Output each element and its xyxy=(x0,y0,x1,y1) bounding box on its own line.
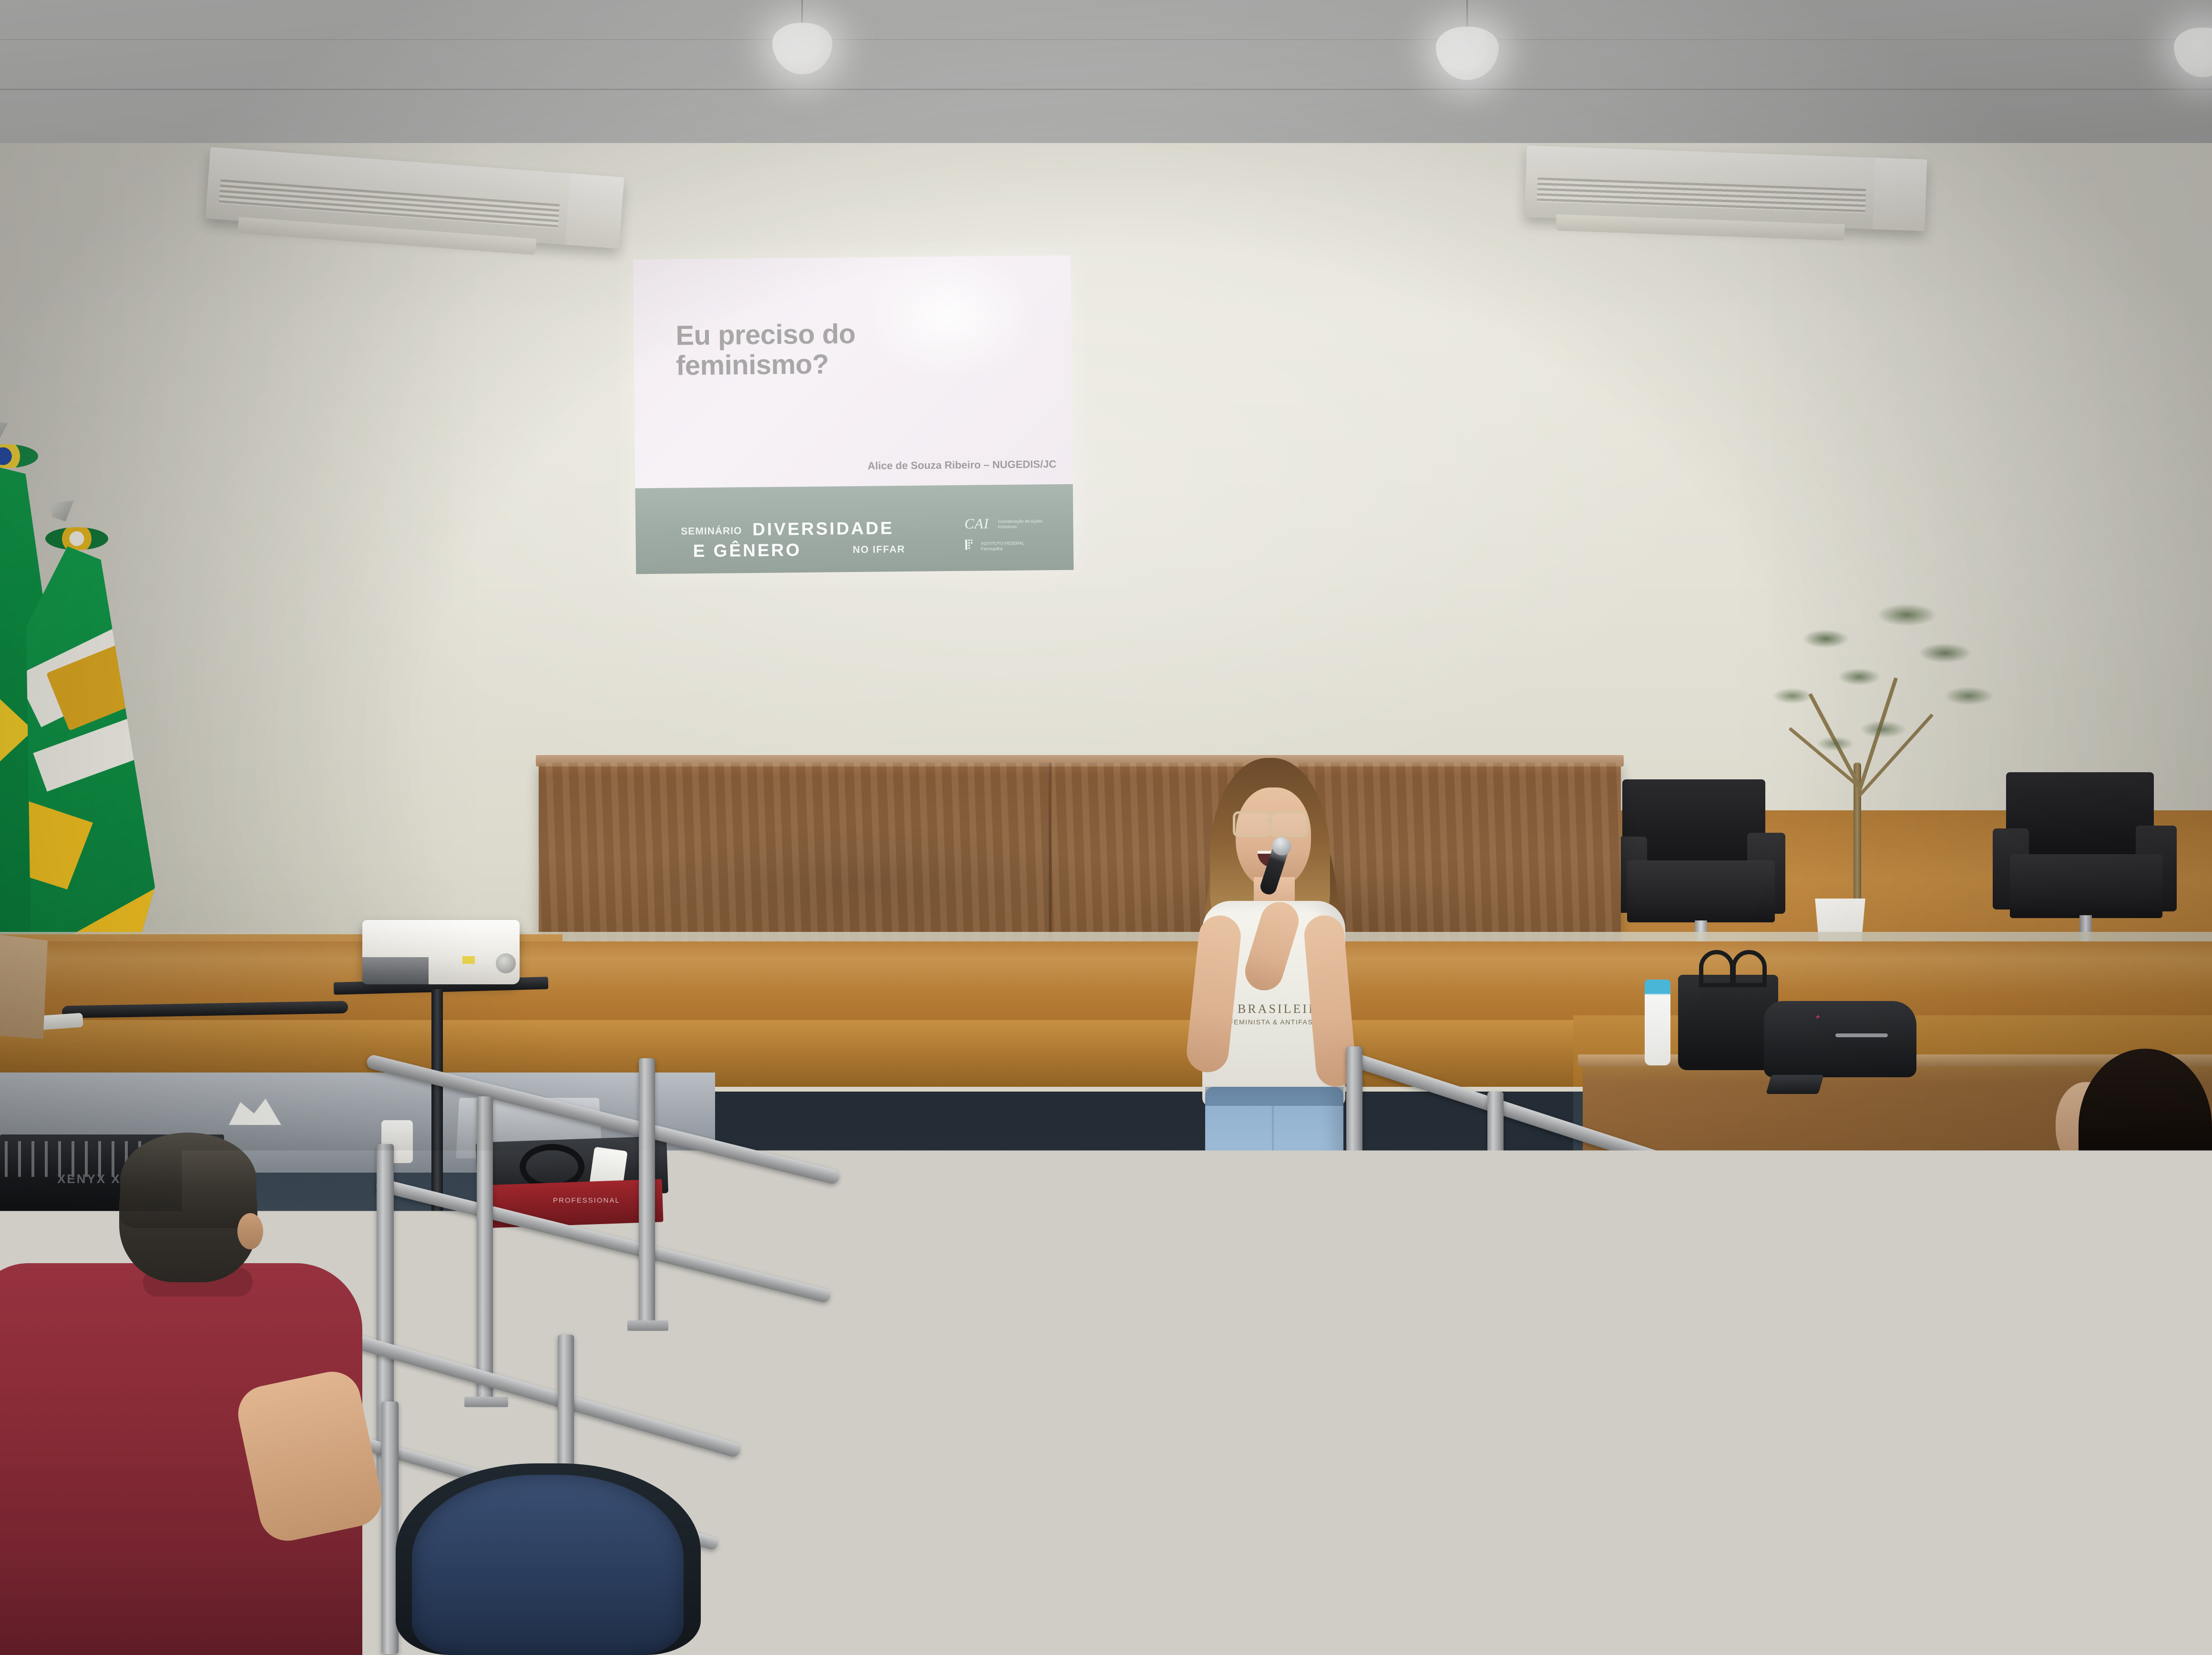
wallet xyxy=(1766,1075,1823,1094)
woman-hair xyxy=(2079,1049,2212,1206)
projector-lens xyxy=(496,953,516,973)
audience-woman-pink-jacket xyxy=(1535,1349,1926,1655)
pendant-cord-center xyxy=(1466,0,1468,31)
ramp-post-r3 xyxy=(1397,1268,1414,1655)
rio-grande-do-sul-flag xyxy=(36,501,155,987)
red-case-label: PROFESSIONAL xyxy=(553,1196,639,1204)
jeans-seam xyxy=(1272,1106,1274,1344)
ac-side-panel xyxy=(1873,158,1927,231)
woman-long-black-hair xyxy=(1621,1349,1821,1616)
banner-noiffar-label: NO IFFAR xyxy=(853,544,905,556)
ramp-base-plate-r1 xyxy=(1334,1344,1377,1355)
jeans-waistband xyxy=(1205,1087,1343,1106)
speaker-jeans xyxy=(1205,1087,1343,1354)
banner-egenero-label: E GÊNERO xyxy=(693,540,802,561)
audience-chair-center-2[interactable] xyxy=(706,1540,1001,1655)
slide-title: Eu preciso do feminismo? xyxy=(676,318,943,381)
ramp-post-r1 xyxy=(1346,1046,1362,1351)
backpack-logo: ✦ xyxy=(1814,1012,1820,1022)
handbag xyxy=(1678,975,1778,1070)
banner-seminario-label: SEMINÁRIO xyxy=(681,525,742,537)
projected-slide: Eu preciso do feminismo? Alice de Souza … xyxy=(633,255,1074,574)
auditorium-photo: Eu preciso do feminismo? Alice de Souza … xyxy=(0,0,2212,1655)
flag-finial xyxy=(49,501,74,521)
ramp-base-plate-l2 xyxy=(464,1397,508,1407)
flag-finial xyxy=(0,419,8,441)
flag-cloth xyxy=(26,546,155,994)
man-ear xyxy=(237,1213,263,1249)
speaker-sandal-foot xyxy=(1254,1351,1291,1372)
flag-rosette xyxy=(0,444,38,468)
projector-sticker xyxy=(462,956,475,964)
glasses-lens-left xyxy=(1233,811,1271,837)
water-bottle xyxy=(1645,980,1670,1065)
man-hair xyxy=(120,1133,256,1228)
projector-stand-pole xyxy=(431,989,443,1256)
handbag-strap-right xyxy=(1731,950,1767,987)
ramp-post-l2 xyxy=(477,1096,493,1401)
flag-rosette xyxy=(45,527,108,550)
glasses-lens-right xyxy=(1270,811,1308,837)
armchair-seat xyxy=(1627,860,1775,922)
backpack: ✦ xyxy=(1764,1001,1916,1077)
projector xyxy=(362,920,520,984)
if-logo-icon xyxy=(965,539,977,551)
tree-foliage xyxy=(1764,586,2012,796)
ac-grill xyxy=(1537,177,1866,213)
ramp-base-plate-l1 xyxy=(627,1320,668,1331)
ramp-post-l1 xyxy=(639,1058,655,1325)
foreground-chair-right[interactable] xyxy=(2064,1459,2212,1655)
chair-backrest xyxy=(412,1475,684,1655)
audience-chair-center-1[interactable] xyxy=(396,1463,701,1655)
banner-diversidade-label: DIVERSIDADE xyxy=(752,518,894,540)
projector-ports xyxy=(362,957,429,984)
chair-backrest xyxy=(720,1548,987,1655)
ac-unit-right xyxy=(1525,145,1927,231)
backpack-zipper xyxy=(1835,1033,1888,1037)
handbag-strap-left xyxy=(1699,950,1734,987)
slide-title-line1: Eu preciso do xyxy=(676,318,943,351)
ceiling xyxy=(0,0,2212,157)
cai-logo: CAI xyxy=(964,516,989,532)
armchair-seat xyxy=(2010,854,2162,918)
audience-man-maroon-polo xyxy=(0,1111,391,1655)
slide-byline: Alice de Souza Ribeiro – NUGEDIS/JC xyxy=(868,458,1056,472)
slide-title-line2: feminismo? xyxy=(676,348,943,381)
ac-side-panel xyxy=(565,174,625,249)
cai-logo-subtitle: Coordenação de Ações Inclusivas xyxy=(998,519,1055,530)
glasses-bridge xyxy=(1265,819,1272,821)
woman-hair xyxy=(2002,1254,2212,1492)
paper-bag xyxy=(0,934,48,1039)
speaker-glasses xyxy=(1233,811,1315,833)
if-logo-subtitle: INSTITUTO FEDERAL Farroupilha xyxy=(981,541,1043,552)
